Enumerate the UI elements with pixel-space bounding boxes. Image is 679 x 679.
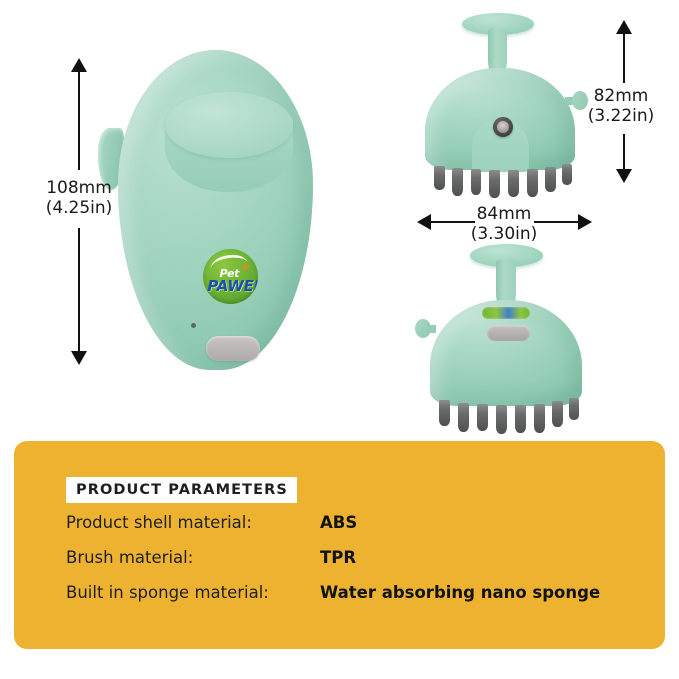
dimension-inch: (3.30in) [471,224,538,244]
dimension-mm: 82mm [594,86,649,106]
dimension-brush-width-label: 84mm (3.30in) [443,204,565,244]
bristle [477,404,488,431]
dimension-inch: (3.22in) [588,106,655,126]
paw-print-icon: ❄ [241,261,250,274]
table-row: Brush material: TPR [66,548,646,574]
bristle [489,170,500,198]
bristle [562,164,572,185]
main-body-button [206,336,260,361]
bristle [552,401,563,427]
dimension-line [78,70,80,170]
param-value: TPR [320,548,356,567]
dimension-main-height-label: 108mm (4.25in) [16,178,142,218]
bristle [545,167,556,192]
dimension-inch: (4.25in) [46,198,113,218]
brush-back-button-slot [487,325,530,341]
bristle [508,170,519,197]
dimension-mm: 84mm [477,204,532,224]
product-parameters-heading: PRODUCT PARAMETERS [66,477,297,503]
brush-front-power-button-inner [497,121,509,133]
arrow-down-icon [616,169,632,183]
arrow-down-icon [71,351,87,365]
dimension-brush-height-label: 82mm (3.22in) [562,86,679,126]
param-label: Product shell material: [66,513,252,532]
bristle [471,169,481,195]
table-row: Built in sponge material: Water absorbin… [66,583,646,609]
param-value: ABS [320,513,357,532]
logo-pawer-text: PAWER [207,277,258,295]
param-label: Built in sponge material: [66,583,269,602]
table-row: Product shell material: ABS [66,513,646,539]
bristle [434,166,445,190]
status-led-indicator [191,323,196,328]
dimension-line [78,228,80,353]
bristle [569,398,579,420]
bristle [439,400,450,426]
brush-front-power-button [493,117,513,137]
dimension-line [534,221,579,223]
brush-back-side-tab [415,319,431,338]
main-body-lid-top [165,92,293,158]
bristle [527,169,538,197]
brand-logo-brush-back [482,307,530,319]
param-value: Water absorbing nano sponge [320,583,600,602]
param-label: Brush material: [66,548,193,567]
brand-logo-main: Pet PAWER ❄ [203,249,258,304]
arrow-right-icon [578,214,592,230]
product-parameters-panel: PRODUCT PARAMETERS Product shell materia… [14,441,665,649]
bristle [496,405,507,434]
bristle [452,168,463,196]
product-spec-image: Pet PAWER ❄ 108mm (4.25in) [0,0,679,679]
dimension-mm: 108mm [46,178,112,198]
dimension-line [623,134,625,171]
bristle [534,404,545,433]
bristle [458,403,469,432]
bristle [515,405,526,433]
dimension-line [623,32,625,83]
